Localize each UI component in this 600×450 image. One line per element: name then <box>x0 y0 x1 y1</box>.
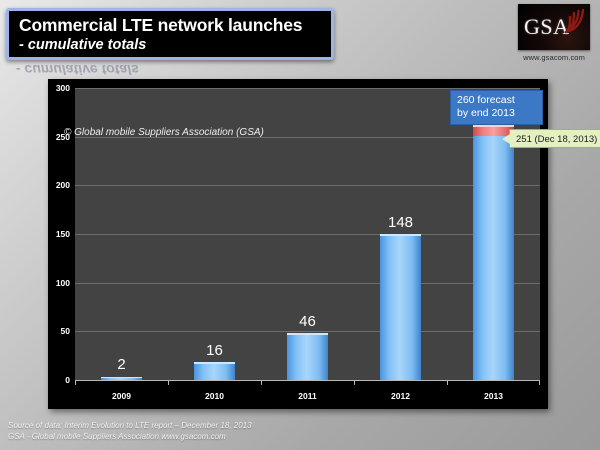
gridline <box>75 88 540 89</box>
y-axis-tick-label: 150 <box>56 229 70 239</box>
bar-value-2009: 2 <box>117 356 125 373</box>
x-axis-tick <box>539 381 540 385</box>
slide-title-box: Commercial LTE network launches - cumula… <box>6 8 334 60</box>
logo-block: GSA www.gsacom.com <box>518 4 590 62</box>
footer-org-line: GSA - Global mobile Suppliers Associatio… <box>8 431 252 442</box>
bar-2010 <box>194 362 235 380</box>
x-axis-tick <box>75 381 76 385</box>
x-axis-line <box>75 380 540 381</box>
signal-arcs-icon <box>562 6 588 36</box>
x-axis-label-2012: 2012 <box>391 391 410 401</box>
footer: Source of data: Interim Evolution to LTE… <box>8 420 252 442</box>
y-axis-tick-label: 100 <box>56 278 70 288</box>
gridline <box>75 331 540 332</box>
actual-value-callout: 251 (Dec 18, 2013) <box>509 129 600 148</box>
page-title: Commercial LTE network launches <box>19 14 331 36</box>
y-axis-tick-label: 300 <box>56 83 70 93</box>
bar-value-2010: 16 <box>206 342 223 359</box>
x-axis-tick <box>447 381 448 385</box>
y-axis-tick-label: 50 <box>61 326 70 336</box>
y-axis-tick-label: 0 <box>65 375 70 385</box>
bar-value-2011: 46 <box>299 313 316 330</box>
bar-2013 <box>473 134 514 380</box>
x-axis-label-2011: 2011 <box>298 391 316 401</box>
x-axis-label-2009: 2009 <box>112 391 131 401</box>
forecast-callout-line2: by end 2013 <box>457 107 537 120</box>
gridline <box>75 185 540 186</box>
y-axis-tick-label: 200 <box>56 180 70 190</box>
bar-2012 <box>380 234 421 380</box>
x-axis-label-2013: 2013 <box>484 391 503 401</box>
x-axis-tick <box>354 381 355 385</box>
x-axis-tick <box>261 381 262 385</box>
forecast-callout: 260 forecast by end 2013 <box>450 90 543 125</box>
page-subtitle: - cumulative totals <box>19 36 331 55</box>
copyright-note: © Global mobile Suppliers Association (G… <box>64 127 264 138</box>
title-reflection: - cumulative totals <box>16 62 336 78</box>
forecast-callout-line1: 260 forecast <box>457 94 537 107</box>
footer-source-line: Source of data: Interim Evolution to LTE… <box>8 420 252 431</box>
gridline <box>75 283 540 284</box>
gridline <box>75 234 540 235</box>
x-axis-tick <box>168 381 169 385</box>
x-axis-label-2010: 2010 <box>205 391 224 401</box>
gsa-logo: GSA <box>518 4 590 50</box>
logo-url: www.gsacom.com <box>518 53 590 62</box>
bar-value-2012: 148 <box>388 214 413 231</box>
bar-2011 <box>287 333 328 380</box>
